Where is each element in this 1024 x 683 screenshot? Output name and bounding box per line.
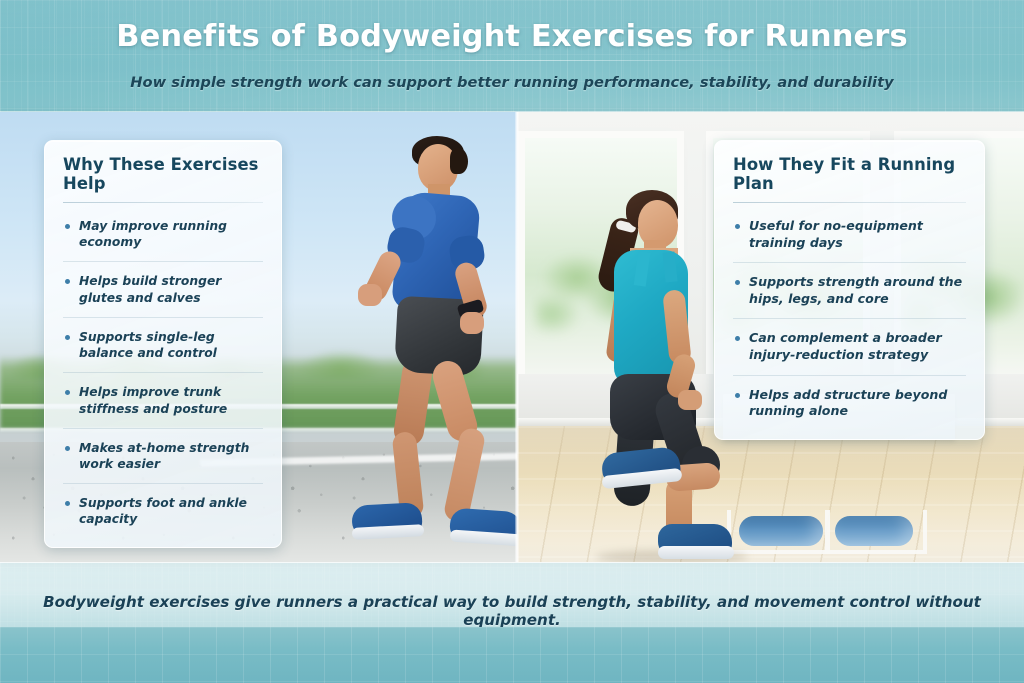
list-item: Makes at-home strength work easier: [63, 429, 263, 484]
list-item: Helps improve trunk stiffness and postur…: [63, 373, 263, 428]
runner-hair-back: [450, 148, 468, 174]
list-item-label: Helps add structure beyond running alone: [749, 387, 966, 420]
footer-strip: [0, 627, 1024, 683]
panel-why-these-exercises-help: Why These Exercises Help May improve run…: [44, 140, 282, 548]
runner-figure: [300, 132, 517, 562]
list-item: Supports foot and ankle capacity: [63, 484, 263, 530]
right-panel-title: How They Fit a Running Plan: [733, 155, 966, 202]
footer-strip-grid: [0, 627, 1024, 683]
list-item: Supports strength around the hips, legs,…: [733, 263, 966, 319]
header: Benefits of Bodyweight Exercises for Run…: [0, 0, 1024, 112]
left-panel-title-divider: [63, 202, 263, 203]
list-item-label: Useful for no-equipment training days: [749, 218, 966, 251]
bullet-icon: [735, 224, 740, 229]
list-item: Can complement a broader injury-reductio…: [733, 319, 966, 375]
lunge-hand: [678, 390, 702, 410]
equipment-rack-post: [825, 510, 830, 554]
bullet-icon: [65, 279, 70, 284]
left-panel-title: Why These Exercises Help: [63, 155, 263, 202]
list-item-label: May improve running economy: [79, 218, 263, 250]
list-item-label: Supports foot and ankle capacity: [79, 495, 263, 527]
left-panel-list: May improve running economy Helps build …: [63, 207, 263, 531]
list-item-label: Supports strength around the hips, legs,…: [749, 274, 966, 307]
photo-split-seam: [515, 112, 519, 562]
bullet-icon: [65, 446, 70, 451]
right-panel-title-divider: [733, 202, 966, 203]
list-item-label: Helps improve trunk stiffness and postur…: [79, 384, 263, 416]
bullet-icon: [735, 393, 740, 398]
right-panel-list: Useful for no-equipment training days Su…: [733, 207, 966, 423]
page-subtitle: How simple strength work can support bet…: [0, 74, 1024, 91]
list-item-label: Can complement a broader injury-reductio…: [749, 330, 966, 363]
runner-back-shoe-sole: [352, 524, 425, 540]
list-item: Supports single-leg balance and control: [63, 318, 263, 373]
list-item-label: Makes at-home strength work easier: [79, 440, 263, 472]
rolled-mat-right: [835, 516, 913, 546]
bullet-icon: [735, 280, 740, 285]
list-item: May improve running economy: [63, 207, 263, 262]
infographic-poster: Benefits of Bodyweight Exercises for Run…: [0, 0, 1024, 683]
list-item: Useful for no-equipment training days: [733, 207, 966, 263]
bullet-icon: [735, 336, 740, 341]
list-item-label: Helps build stronger glutes and calves: [79, 273, 263, 305]
panel-how-they-fit-a-running-plan: How They Fit a Running Plan Useful for n…: [714, 140, 985, 440]
bullet-icon: [65, 224, 70, 229]
page-title: Benefits of Bodyweight Exercises for Run…: [0, 19, 1024, 54]
bullet-icon: [65, 390, 70, 395]
footer-summary: Bodyweight exercises give runners a prac…: [0, 593, 1024, 629]
title-divider: [232, 60, 792, 61]
list-item-label: Supports single-leg balance and control: [79, 329, 263, 361]
list-item: Helps add structure beyond running alone: [733, 376, 966, 423]
runner-raised-fist: [358, 284, 382, 306]
runner-lowered-fist: [460, 312, 484, 334]
header-sheen: [0, 0, 1024, 112]
bullet-icon: [65, 501, 70, 506]
bullet-icon: [65, 335, 70, 340]
lunge-back-shoe-sole: [658, 546, 734, 559]
list-item: Helps build stronger glutes and calves: [63, 262, 263, 317]
